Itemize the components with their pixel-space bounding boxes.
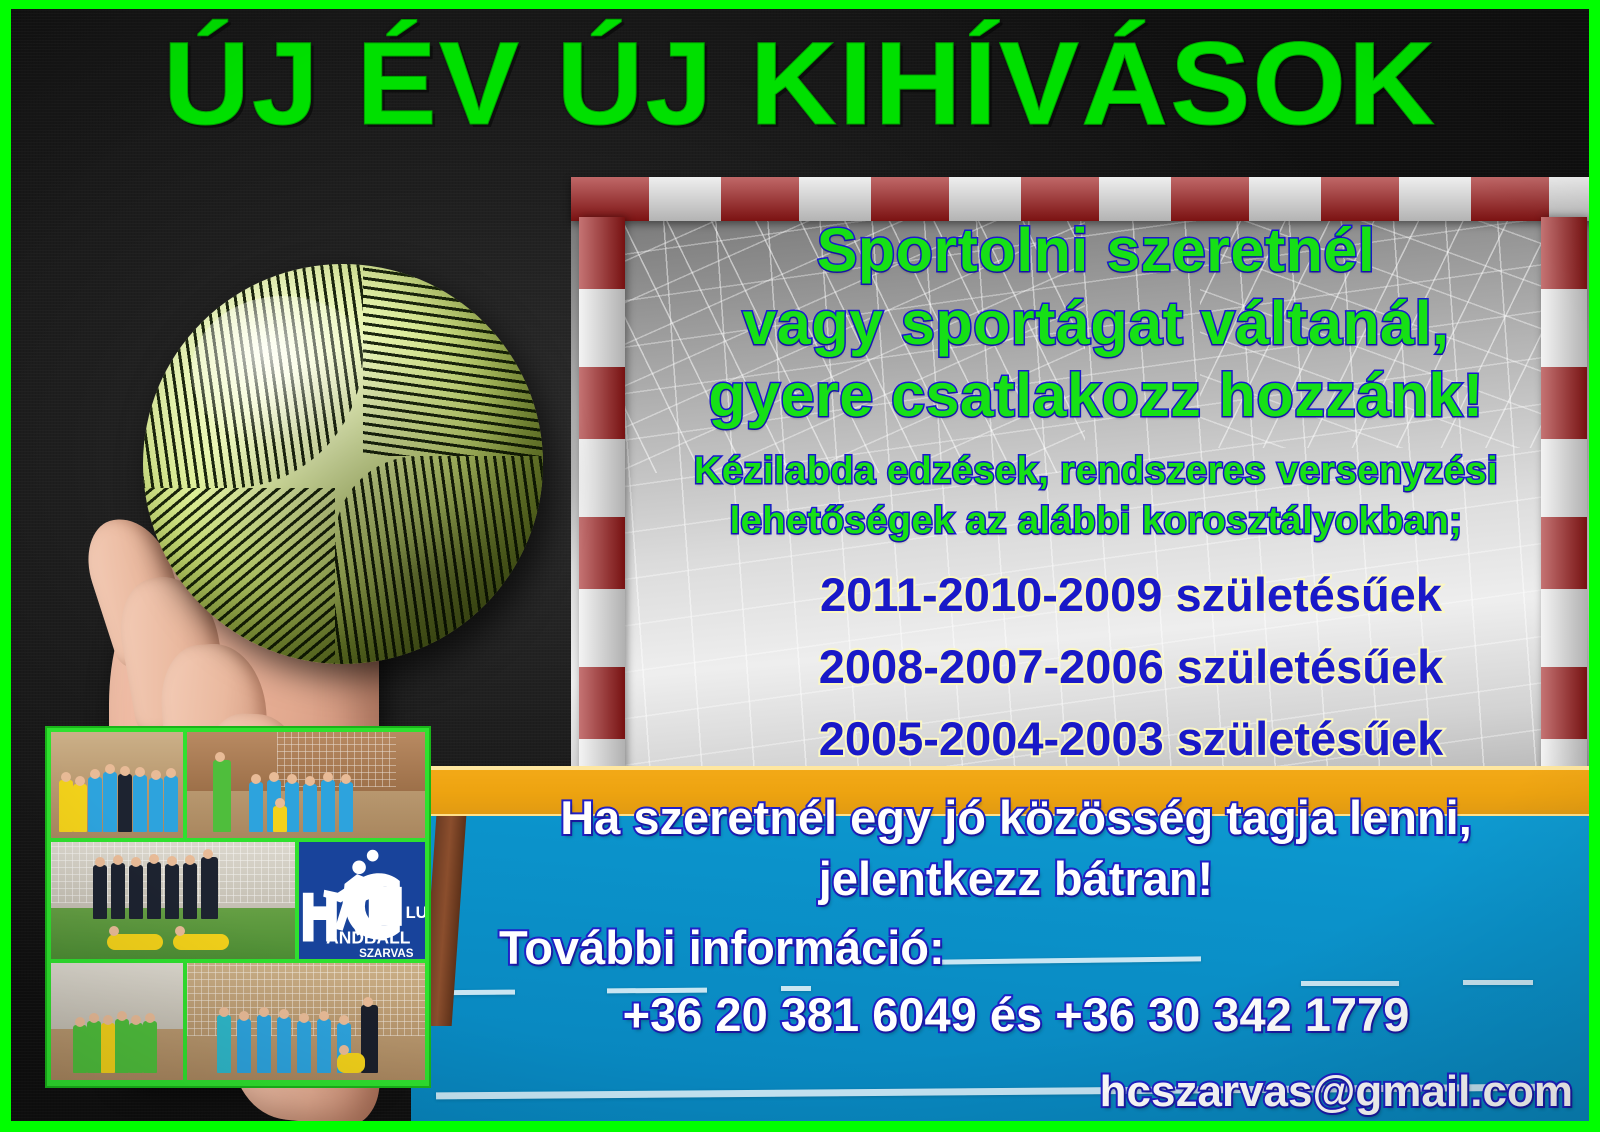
collage-row [51, 732, 425, 838]
info-label: További információ: [431, 917, 1589, 978]
goal-message-block: Sportolni szeretnél vagy sportágat válta… [591, 214, 1589, 547]
player-figure [217, 1015, 231, 1073]
coach-figure [213, 760, 231, 832]
player-figure [237, 1019, 251, 1073]
player-figure [257, 1015, 271, 1073]
ball-segment [143, 264, 363, 488]
email-address[interactable]: hcszarvas@gmail.com [431, 1063, 1589, 1120]
ball-segment [143, 488, 335, 664]
goalkeeper-figure [337, 1053, 365, 1073]
age-group-item: 2011-2010-2009 születésűek [651, 564, 1589, 626]
player-figure [73, 1025, 87, 1073]
message-line-3: gyere csatlakozz hozzánk! [591, 359, 1589, 432]
player-figure [164, 776, 178, 832]
player-figure [73, 784, 87, 832]
player-figure [147, 862, 161, 919]
player-figure [249, 782, 263, 832]
photo-collage: LU ANDBALL SZARVAS [47, 728, 429, 1086]
player-figure [118, 774, 132, 832]
phone-numbers[interactable]: +36 20 381 6049 és +36 30 342 1779 [431, 984, 1589, 1045]
cta-line-2: jelentkezz bátran! [431, 848, 1589, 909]
ball-segment [363, 264, 543, 456]
player-figure [115, 1019, 129, 1073]
player-figure [129, 1023, 143, 1073]
contact-block: Ha szeretnél egy jó közösség tagja lenni… [431, 787, 1589, 1121]
goalkeeper-figure [173, 934, 229, 950]
player-figure [129, 865, 143, 919]
player-figure [285, 782, 299, 832]
player-figure [317, 1019, 331, 1073]
player-figure [87, 1021, 101, 1073]
collage-photo-1 [51, 732, 183, 838]
svg-text:ANDBALL: ANDBALL [326, 927, 411, 947]
collage-row: LU ANDBALL SZARVAS [51, 842, 425, 959]
player-figure [88, 777, 102, 832]
collage-photo-5 [51, 963, 183, 1080]
svg-text:LU: LU [406, 903, 425, 922]
poster-root: ÚJ ÉV ÚJ KIHÍVÁSOK Sportolni szeretnél v… [0, 0, 1600, 1132]
player-figure [101, 1023, 115, 1073]
collage-photo-2 [187, 732, 425, 838]
ball-segment [335, 456, 543, 664]
handball-ball-icon [143, 264, 543, 664]
cta-line-1: Ha szeretnél egy jó közösség tagja lenni… [431, 787, 1589, 848]
player-figure [149, 778, 163, 832]
message-line-1: Sportolni szeretnél [591, 214, 1589, 287]
message-sub-1: Kézilabda edzések, rendszeres versenyzés… [591, 446, 1589, 497]
player-figure [297, 1021, 311, 1073]
handball-club-logo-icon: LU ANDBALL SZARVAS [299, 842, 425, 959]
svg-text:SZARVAS: SZARVAS [359, 947, 414, 959]
age-groups-list: 2011-2010-2009 születésűek 2008-2007-200… [651, 564, 1589, 780]
message-line-2: vagy sportágat váltanál, [591, 287, 1589, 360]
collage-photo-6 [187, 963, 425, 1080]
page-title: ÚJ ÉV ÚJ KIHÍVÁSOK [11, 23, 1589, 146]
player-figure [339, 782, 353, 832]
player-figure [93, 865, 107, 919]
collage-photo-4-logo: LU ANDBALL SZARVAS [299, 842, 425, 959]
player-figure [143, 1021, 157, 1073]
player-figure [133, 775, 147, 832]
poster-inner: ÚJ ÉV ÚJ KIHÍVÁSOK Sportolni szeretnél v… [11, 9, 1589, 1121]
player-figure [165, 864, 179, 919]
message-sub-2: lehetőségek az alábbi korosztályokban; [591, 496, 1589, 547]
player-figure [59, 780, 73, 832]
player-figure [111, 863, 125, 919]
age-group-item: 2008-2007-2006 születésűek [651, 636, 1589, 698]
player-figure [103, 772, 117, 832]
goalkeeper-figure [107, 934, 163, 950]
collage-row [51, 963, 425, 1080]
player-figure [277, 1017, 291, 1073]
coach-figure [201, 857, 218, 919]
goalkeeper-figure [273, 806, 287, 832]
player-figure [183, 863, 197, 919]
player-figure [303, 784, 317, 832]
club-logo: LU ANDBALL SZARVAS [299, 842, 425, 959]
collage-photo-3 [51, 842, 295, 959]
player-figure [321, 780, 335, 832]
age-group-item: 2005-2004-2003 születésűek [651, 708, 1589, 770]
